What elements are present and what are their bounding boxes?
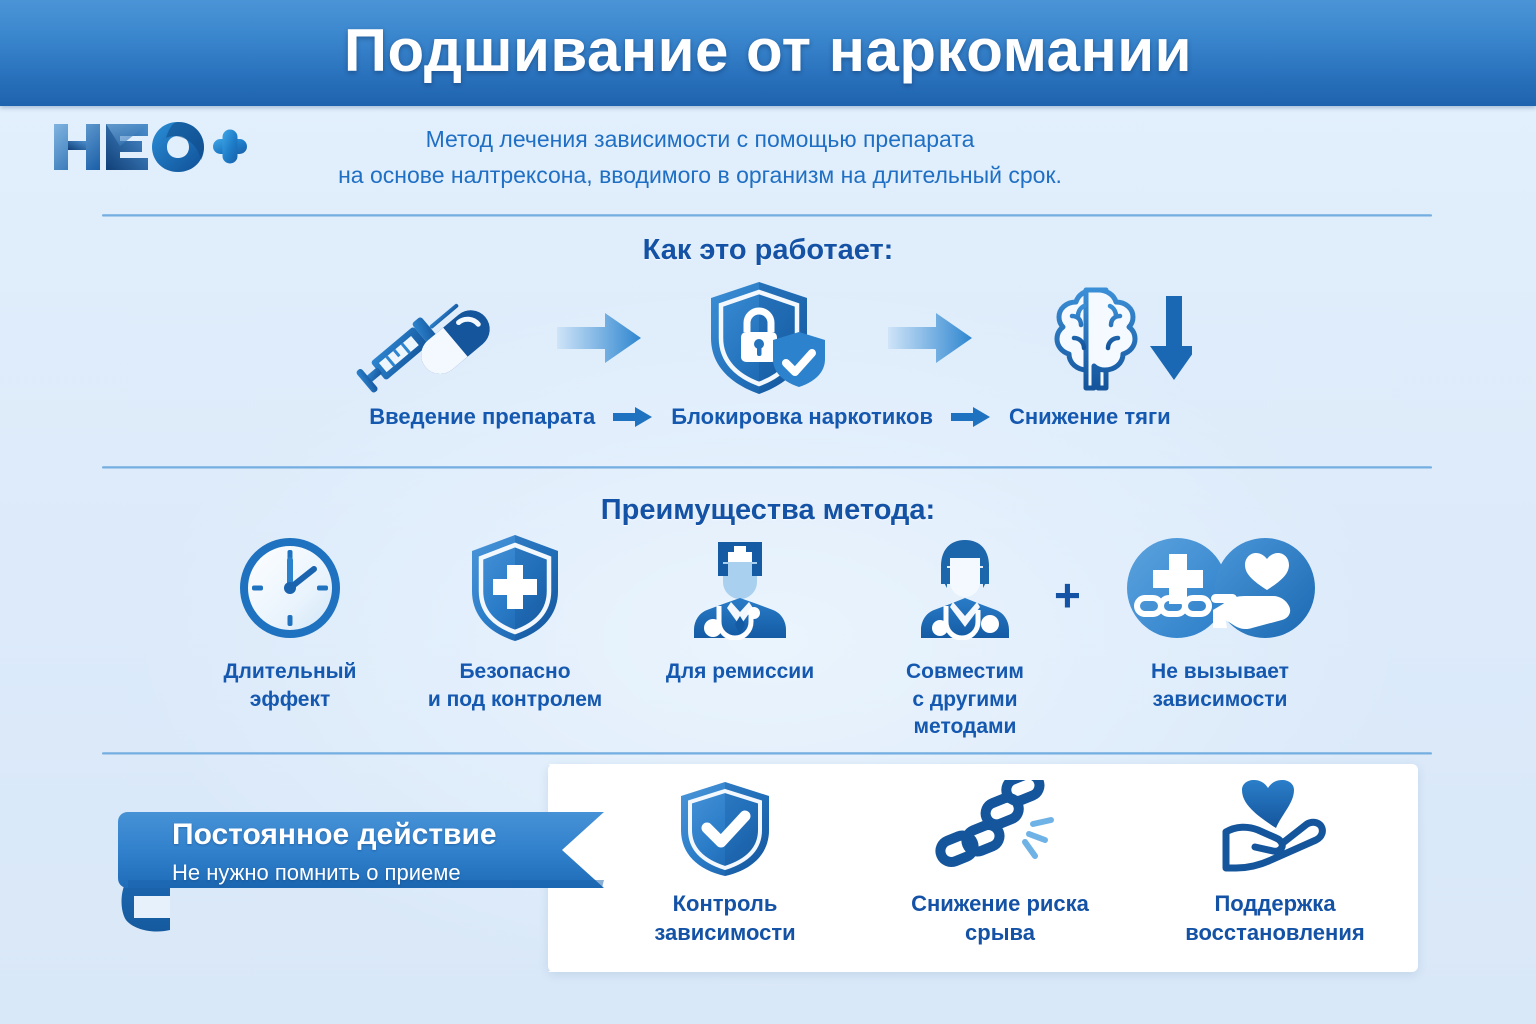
advantage-icon-wrap-4 xyxy=(910,538,1020,638)
intro-line-2: на основе налтрексона, вводимого в орган… xyxy=(270,158,1130,194)
bottom-icon-wrap-1 xyxy=(669,778,781,876)
advantage-icon-wrap-2 xyxy=(468,538,562,638)
advantage-item-compatible: Совместим с другими методами xyxy=(865,538,1065,741)
divider-top xyxy=(102,214,1432,217)
advantage-item-duration: Длительный эффект xyxy=(190,538,390,713)
broken-chain-icon xyxy=(925,780,1075,876)
bottom-label-2: Снижение риска срыва xyxy=(875,890,1125,947)
ribbon-title: Постоянное действие xyxy=(172,818,602,851)
bottom-icon-wrap-2 xyxy=(925,778,1075,876)
divider-bottom xyxy=(102,752,1432,755)
advantage-label-2: Безопасно и под контролем xyxy=(428,658,602,713)
divider-middle xyxy=(102,466,1432,469)
advantage-label-4-line3: методами xyxy=(906,713,1024,741)
advantage-label-4-line1: Совместим xyxy=(906,658,1024,686)
bottom-item-relapse: Снижение риска срыва xyxy=(875,778,1125,947)
advantage-label-4-line2: с другими xyxy=(906,686,1024,714)
step-label-2: Блокировка наркотиков xyxy=(671,404,933,430)
step-label-1: Введение препарата xyxy=(369,404,595,430)
intro-line-1: Метод лечения зависимости с помощью преп… xyxy=(270,122,1130,158)
how-it-works-labels: Введение препарата Блокировка наркотиков… xyxy=(330,404,1210,430)
nurse-icon xyxy=(910,536,1020,640)
advantage-item-safety: Безопасно и под контролем xyxy=(415,538,615,713)
advantage-item-no-addiction: Не вызывает зависимости xyxy=(1090,538,1350,713)
shield-cross-icon xyxy=(468,533,562,643)
arrow-right-small-icon-1 xyxy=(613,406,653,428)
advantage-icon-wrap-5 xyxy=(1115,538,1325,638)
arrow-right-small-icon-2 xyxy=(951,406,991,428)
bottom-icon-wrap-3 xyxy=(1210,778,1340,876)
neo-plus-logo-icon xyxy=(48,116,248,178)
advantage-label-3: Для ремиссии xyxy=(666,658,814,686)
advantage-icon-wrap-1 xyxy=(238,538,342,638)
advantage-label-5-line2: зависимости xyxy=(1151,686,1289,714)
advantage-label-2-line1: Безопасно xyxy=(428,658,602,686)
advantage-label-2-line2: и под контролем xyxy=(428,686,602,714)
advantage-label-4: Совместим с другими методами xyxy=(906,658,1024,741)
syringe-pill-icon xyxy=(348,282,498,394)
intro-text: Метод лечения зависимости с помощью преп… xyxy=(270,122,1130,193)
brain-down-arrow-icon xyxy=(1032,282,1192,394)
bottom-label-3-line2: восстановления xyxy=(1185,919,1364,948)
advantages-section: Длительный эффект Безопасно и под контро… xyxy=(190,538,1350,738)
brand-logo xyxy=(48,116,248,178)
bottom-label-3: Поддержка восстановления xyxy=(1185,890,1364,947)
bottom-item-support: Поддержка восстановления xyxy=(1150,778,1400,947)
shield-lock-icon xyxy=(701,278,829,398)
header-bar: Подшивание от наркомании xyxy=(0,0,1536,106)
advantages-title: Преимущества метода: xyxy=(0,494,1536,527)
hand-heart-icon xyxy=(1210,780,1340,876)
how-it-works-section: Введение препарата Блокировка наркотиков… xyxy=(330,282,1210,452)
advantage-label-5-line1: Не вызывает xyxy=(1151,658,1289,686)
ribbon-subtitle: Не нужно помнить о приеме xyxy=(172,861,602,885)
advantage-label-1: Длительный эффект xyxy=(190,658,390,713)
infographic-poster: Подшивание от наркомании xyxy=(0,0,1536,1024)
shield-check-icon xyxy=(669,780,781,876)
clock-icon xyxy=(238,536,342,640)
how-it-works-title: Как это работает: xyxy=(0,234,1536,267)
advantage-item-remission: Для ремиссии xyxy=(640,538,840,686)
arrow-right-icon xyxy=(557,311,643,365)
bottom-benefits: Контроль зависимости xyxy=(600,778,1400,968)
bottom-label-3-line1: Поддержка xyxy=(1185,890,1364,919)
how-it-works-icons xyxy=(330,282,1210,394)
ribbon-banner: Постоянное действие Не нужно помнить о п… xyxy=(108,790,648,940)
advantage-label-5: Не вызывает зависимости xyxy=(1151,658,1289,713)
page-title: Подшивание от наркомании xyxy=(344,21,1192,85)
ribbon-text: Постоянное действие Не нужно помнить о п… xyxy=(172,818,602,885)
broken-chain-heart-hand-icon xyxy=(1115,536,1325,640)
arrow-right-icon-2 xyxy=(888,311,974,365)
doctor-icon xyxy=(685,536,795,640)
step-label-3: Снижение тяги xyxy=(1009,404,1171,430)
advantage-icon-wrap-3 xyxy=(685,538,795,638)
